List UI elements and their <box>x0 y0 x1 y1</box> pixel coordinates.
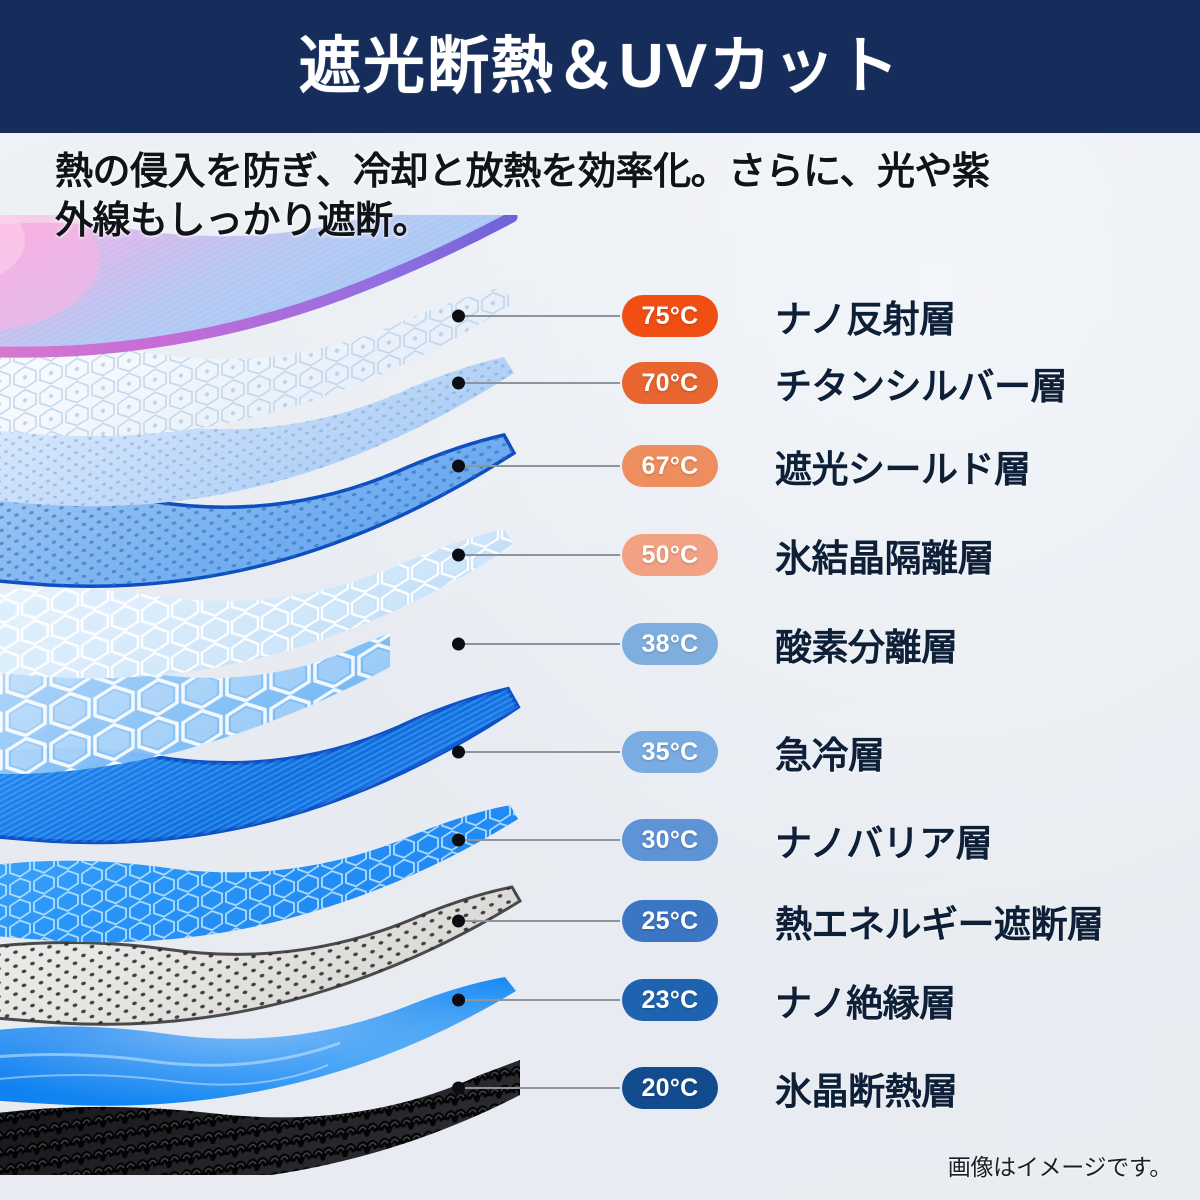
temperature-badge[interactable]: 50°C <box>622 534 718 576</box>
layer-callout-row[interactable]: 20°C氷晶断熱層 <box>0 1065 1200 1111</box>
leader-dot-icon <box>452 460 465 473</box>
layer-name-label: 酸素分離層 <box>775 617 958 671</box>
layer-name-label: 急冷層 <box>775 725 885 779</box>
layer-callout-row[interactable]: 30°Cナノバリア層 <box>0 817 1200 863</box>
temperature-badge[interactable]: 20°C <box>622 1067 718 1109</box>
layer-name-label: 氷晶断熱層 <box>775 1061 958 1115</box>
leader-line <box>462 999 620 1001</box>
leader-dot-icon <box>452 377 465 390</box>
layer-name-label: 遮光シールド層 <box>775 439 1031 493</box>
leader-line <box>462 382 620 384</box>
layer-callout-row[interactable]: 23°Cナノ絶縁層 <box>0 977 1200 1023</box>
layer-stack-illustration <box>0 215 640 1175</box>
leader-line <box>462 465 620 467</box>
leader-dot-icon <box>452 638 465 651</box>
leader-dot-icon <box>452 549 465 562</box>
subtitle-line-2: 外線もしっかり遮断。 <box>55 197 1165 246</box>
layer-name-label: チタンシルバー層 <box>775 356 1067 410</box>
temperature-badge[interactable]: 35°C <box>622 731 718 773</box>
leader-dot-icon <box>452 310 465 323</box>
leader-dot-icon <box>452 746 465 759</box>
layer-callout-row[interactable]: 35°C急冷層 <box>0 729 1200 775</box>
leader-line <box>462 839 620 841</box>
layer-name-label: 氷結晶隔離層 <box>775 528 994 582</box>
leader-line <box>462 751 620 753</box>
temperature-badge[interactable]: 23°C <box>622 979 718 1021</box>
leader-line <box>462 554 620 556</box>
page-title: 遮光断熱＆UVカット <box>299 36 901 98</box>
layer-callout-row[interactable]: 38°C酸素分離層 <box>0 621 1200 667</box>
layer-callout-row[interactable]: 67°C遮光シールド層 <box>0 443 1200 489</box>
leader-line <box>462 643 620 645</box>
leader-dot-icon <box>452 915 465 928</box>
layer-name-label: ナノ反射層 <box>775 289 956 343</box>
layer-callout-row[interactable]: 25°C熱エネルギー遮断層 <box>0 898 1200 944</box>
layer-name-label: ナノバリア層 <box>775 813 992 867</box>
header-band: 遮光断熱＆UVカット <box>0 0 1200 133</box>
temperature-badge[interactable]: 38°C <box>622 623 718 665</box>
leader-dot-icon <box>452 994 465 1007</box>
layer-callout-row[interactable]: 50°C氷結晶隔離層 <box>0 532 1200 578</box>
temperature-badge[interactable]: 30°C <box>622 819 718 861</box>
layer-name-label: 熱エネルギー遮断層 <box>775 894 1104 948</box>
layer-callout-row[interactable]: 70°Cチタンシルバー層 <box>0 360 1200 406</box>
leader-line <box>462 1087 620 1089</box>
infographic-page: 遮光断熱＆UVカット 熱の侵入を防ぎ、冷却と放熱を効率化。さらに、光や紫 外線も… <box>0 0 1200 1200</box>
leader-line <box>462 920 620 922</box>
temperature-badge[interactable]: 67°C <box>622 445 718 487</box>
leader-dot-icon <box>452 1082 465 1095</box>
subtitle-text: 熱の侵入を防ぎ、冷却と放熱を効率化。さらに、光や紫 外線もしっかり遮断。 <box>55 148 1165 245</box>
subtitle-line-1: 熱の侵入を防ぎ、冷却と放熱を効率化。さらに、光や紫 <box>55 148 1165 197</box>
layer-name-label: ナノ絶縁層 <box>775 973 956 1027</box>
temperature-badge[interactable]: 70°C <box>622 362 718 404</box>
disclaimer-note: 画像はイメージです。 <box>948 1148 1172 1182</box>
leader-line <box>462 315 620 317</box>
temperature-badge[interactable]: 25°C <box>622 900 718 942</box>
layer-callout-row[interactable]: 75°Cナノ反射層 <box>0 293 1200 339</box>
leader-dot-icon <box>452 834 465 847</box>
temperature-badge[interactable]: 75°C <box>622 295 718 337</box>
